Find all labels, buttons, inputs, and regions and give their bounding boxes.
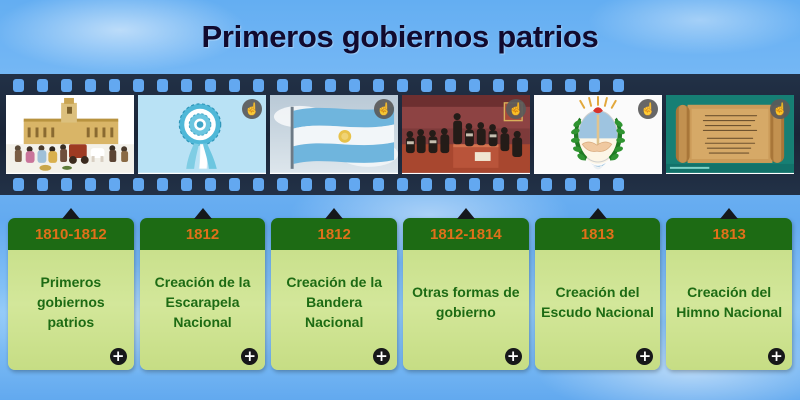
slide-canvas: Primeros gobiernos patrios	[0, 0, 800, 400]
film-frame-escarapela-nacional[interactable]: ☝	[138, 95, 266, 174]
sprocket-hole	[253, 79, 264, 92]
hand-pointer-icon[interactable]: ☝	[506, 99, 526, 119]
sprocket-hole	[61, 79, 72, 92]
sprocket-hole	[253, 178, 264, 191]
sprocket-hole	[421, 79, 432, 92]
page-title: Primeros gobiernos patrios	[201, 19, 598, 55]
sprocket-hole	[277, 79, 288, 92]
timeline-cards: 1810-1812Primeros gobiernos patrios+1812…	[8, 208, 792, 388]
plus-circle-icon[interactable]: +	[505, 348, 522, 365]
card-title: Creación de la Escarapela Nacional	[146, 273, 260, 333]
card-body: Primeros gobiernos patrios+	[8, 250, 134, 370]
card[interactable]: 1812Creación de la Escarapela Nacional+	[140, 218, 266, 370]
sprocket-hole	[13, 79, 24, 92]
card-body: Creación de la Bandera Nacional+	[271, 250, 397, 370]
plus-circle-icon[interactable]: +	[241, 348, 258, 365]
sprocket-hole	[85, 79, 96, 92]
sprocket-hole	[589, 178, 600, 191]
plus-circle-icon[interactable]: +	[373, 348, 390, 365]
sprocket-hole	[613, 178, 624, 191]
timeline-card-4[interactable]: 1812-1814Otras formas de gobierno+	[403, 208, 529, 388]
film-frames: ☝	[6, 95, 794, 174]
sprocket-hole	[565, 178, 576, 191]
card-title: Otras formas de gobierno	[409, 283, 523, 323]
sprocket-hole	[517, 79, 528, 92]
sprocket-hole	[589, 79, 600, 92]
sprocket-hole	[541, 79, 552, 92]
card-body: Creación del Himno Nacional+	[666, 250, 792, 370]
timeline-card-3[interactable]: 1812Creación de la Bandera Nacional+	[271, 208, 397, 388]
sprocket-hole	[373, 178, 384, 191]
card-body: Otras formas de gobierno+	[403, 250, 529, 370]
sprocket-hole	[181, 178, 192, 191]
hand-pointer-icon[interactable]: ☝	[242, 99, 262, 119]
card-year: 1813	[666, 218, 792, 250]
card-pointer-triangle	[457, 208, 475, 219]
sprocket-hole	[229, 178, 240, 191]
sprocket-hole	[205, 178, 216, 191]
card-pointer-triangle	[62, 208, 80, 219]
card-pointer-triangle	[325, 208, 343, 219]
sprocket-hole	[157, 79, 168, 92]
sprocket-hole	[325, 79, 336, 92]
sprocket-hole	[109, 178, 120, 191]
sprocket-hole	[421, 178, 432, 191]
card-year: 1812	[140, 218, 266, 250]
sprocket-hole	[61, 178, 72, 191]
sprocket-hole	[397, 79, 408, 92]
hand-pointer-icon[interactable]: ☝	[638, 99, 658, 119]
film-strip: ☝	[0, 74, 800, 195]
card-year: 1812-1814	[403, 218, 529, 250]
sprocket-hole	[133, 79, 144, 92]
sprocket-hole	[109, 79, 120, 92]
card-body: Creación de la Escarapela Nacional+	[140, 250, 266, 370]
sprocket-hole	[85, 178, 96, 191]
card-pointer-triangle	[720, 208, 738, 219]
film-frame-bandera-argentina[interactable]: ☝	[270, 95, 398, 174]
sprocket-hole	[541, 178, 552, 191]
sprocket-hole	[349, 79, 360, 92]
sprocket-hole	[373, 79, 384, 92]
card[interactable]: 1813Creación del Himno Nacional+	[666, 218, 792, 370]
sprocket-hole	[301, 178, 312, 191]
card-title: Primeros gobiernos patrios	[14, 273, 128, 333]
sprocket-hole	[37, 79, 48, 92]
sprocket-hole	[277, 178, 288, 191]
card-year: 1813	[535, 218, 661, 250]
card-pointer-triangle	[589, 208, 607, 219]
sprocket-hole	[469, 79, 480, 92]
film-frame-himno-nacional[interactable]: ☝	[666, 95, 794, 174]
sprocket-hole	[181, 79, 192, 92]
film-frame-escudo-nacional[interactable]: ☝	[534, 95, 662, 174]
card[interactable]: 1812-1814Otras formas de gobierno+	[403, 218, 529, 370]
sprocket-hole	[325, 178, 336, 191]
timeline-card-2[interactable]: 1812Creación de la Escarapela Nacional+	[140, 208, 266, 388]
sprocket-hole	[445, 79, 456, 92]
sprocket-hole	[493, 79, 504, 92]
sprocket-hole	[13, 178, 24, 191]
card[interactable]: 1812Creación de la Bandera Nacional+	[271, 218, 397, 370]
sprocket-hole	[493, 178, 504, 191]
title-bar: Primeros gobiernos patrios	[0, 0, 800, 74]
card-year: 1812	[271, 218, 397, 250]
sprocket-hole	[229, 79, 240, 92]
card-title: Creación de la Bandera Nacional	[277, 273, 391, 333]
hand-pointer-icon[interactable]: ☝	[374, 99, 394, 119]
sprocket-row-bottom	[0, 176, 800, 192]
timeline-card-5[interactable]: 1813Creación del Escudo Nacional+	[535, 208, 661, 388]
timeline-card-1[interactable]: 1810-1812Primeros gobiernos patrios+	[8, 208, 134, 388]
card-body: Creación del Escudo Nacional+	[535, 250, 661, 370]
card-title: Creación del Escudo Nacional	[541, 283, 655, 323]
sprocket-hole	[469, 178, 480, 191]
cabildo-abierto-image	[6, 95, 134, 173]
sprocket-hole	[349, 178, 360, 191]
sprocket-hole	[565, 79, 576, 92]
sprocket-hole	[205, 79, 216, 92]
film-frame-asamblea-ano-xiii[interactable]: ☝	[402, 95, 530, 174]
sprocket-hole	[157, 178, 168, 191]
sprocket-hole	[613, 79, 624, 92]
hand-pointer-icon[interactable]: ☝	[770, 99, 790, 119]
plus-circle-icon[interactable]: +	[636, 348, 653, 365]
film-frame-cabildo-abierto[interactable]	[6, 95, 134, 174]
sprocket-hole	[37, 178, 48, 191]
sprocket-hole	[397, 178, 408, 191]
card[interactable]: 1810-1812Primeros gobiernos patrios+	[8, 218, 134, 370]
timeline-card-6[interactable]: 1813Creación del Himno Nacional+	[666, 208, 792, 388]
sprocket-row-top	[0, 77, 800, 93]
sprocket-hole	[133, 178, 144, 191]
card-year: 1810-1812	[8, 218, 134, 250]
sprocket-hole	[517, 178, 528, 191]
sprocket-hole	[445, 178, 456, 191]
plus-circle-icon[interactable]: +	[768, 348, 785, 365]
card-pointer-triangle	[194, 208, 212, 219]
card[interactable]: 1813Creación del Escudo Nacional+	[535, 218, 661, 370]
sprocket-hole	[301, 79, 312, 92]
card-title: Creación del Himno Nacional	[672, 283, 786, 323]
plus-circle-icon[interactable]: +	[110, 348, 127, 365]
